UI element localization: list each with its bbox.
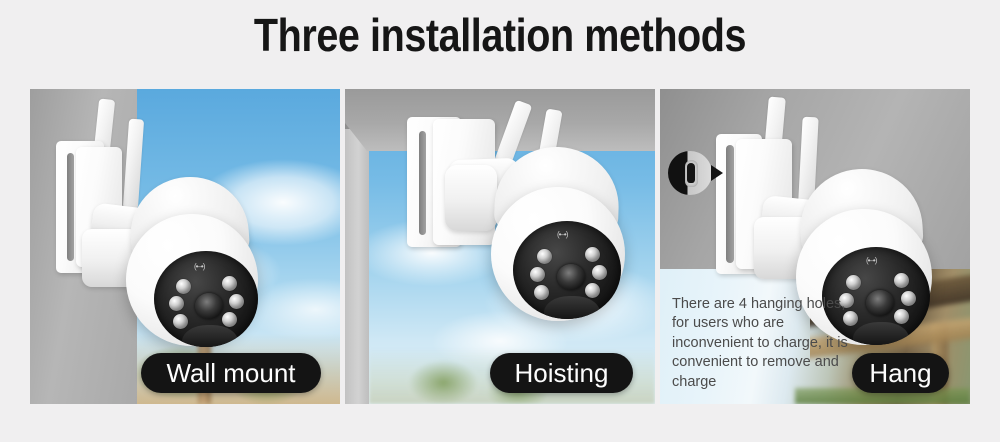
keyhole-icon xyxy=(668,151,712,195)
lens-shroud xyxy=(182,325,238,347)
keyhole-hole xyxy=(687,163,695,183)
caption-label: Hang xyxy=(869,358,931,389)
panel-hoisting[interactable]: (•–•) Hoisting xyxy=(345,89,655,404)
ir-led xyxy=(592,265,607,280)
speaker-icon: (•–•) xyxy=(194,263,204,271)
ir-led xyxy=(901,291,916,306)
ir-led xyxy=(229,294,244,309)
camera-lens xyxy=(866,290,894,316)
callout-arrow-icon xyxy=(711,165,723,181)
bracket-keyhole-slot xyxy=(726,145,734,263)
ir-led xyxy=(173,314,188,329)
ir-led xyxy=(894,273,909,288)
caption-label: Wall mount xyxy=(166,358,295,389)
ir-led xyxy=(176,279,191,294)
hang-note-text: There are 4 hanging holes, for users who… xyxy=(672,295,848,393)
panel-caption-hang[interactable]: Hang xyxy=(852,353,949,393)
lens-shroud xyxy=(853,322,909,345)
page-title: Three installation methods xyxy=(70,8,930,63)
speaker-icon: (•–•) xyxy=(557,231,567,239)
camera-arm-base xyxy=(445,165,497,231)
caption-label: Hoisting xyxy=(515,358,609,389)
bracket-slot xyxy=(67,153,74,261)
ir-led xyxy=(222,312,237,327)
ir-led xyxy=(585,247,600,262)
lens-shroud xyxy=(544,296,600,319)
ir-led xyxy=(537,249,552,264)
ir-led xyxy=(530,267,545,282)
speaker-icon: (•–•) xyxy=(866,257,876,265)
panel-caption-wall-mount[interactable]: Wall mount xyxy=(141,353,321,393)
keyhole-callout xyxy=(668,151,720,199)
panel-hang[interactable]: (•–•) There are 4 hanging holes, for use… xyxy=(660,89,970,404)
panel-wall-mount[interactable]: (•–•) Wall mount xyxy=(30,89,340,404)
camera-lens-face: (•–•) xyxy=(513,221,621,319)
ir-led xyxy=(169,296,184,311)
camera-lens-face: (•–•) xyxy=(154,251,258,347)
ir-led xyxy=(894,309,909,324)
camera-lens xyxy=(557,264,585,290)
ir-led xyxy=(222,276,237,291)
bracket-slot xyxy=(419,131,426,235)
panel-caption-hoisting[interactable]: Hoisting xyxy=(490,353,633,393)
installation-methods-gallery: (•–•) Wall mount xyxy=(30,89,970,404)
ir-led xyxy=(534,285,549,300)
camera-lens xyxy=(195,293,223,319)
ir-led xyxy=(846,275,861,290)
ir-led xyxy=(585,283,600,298)
